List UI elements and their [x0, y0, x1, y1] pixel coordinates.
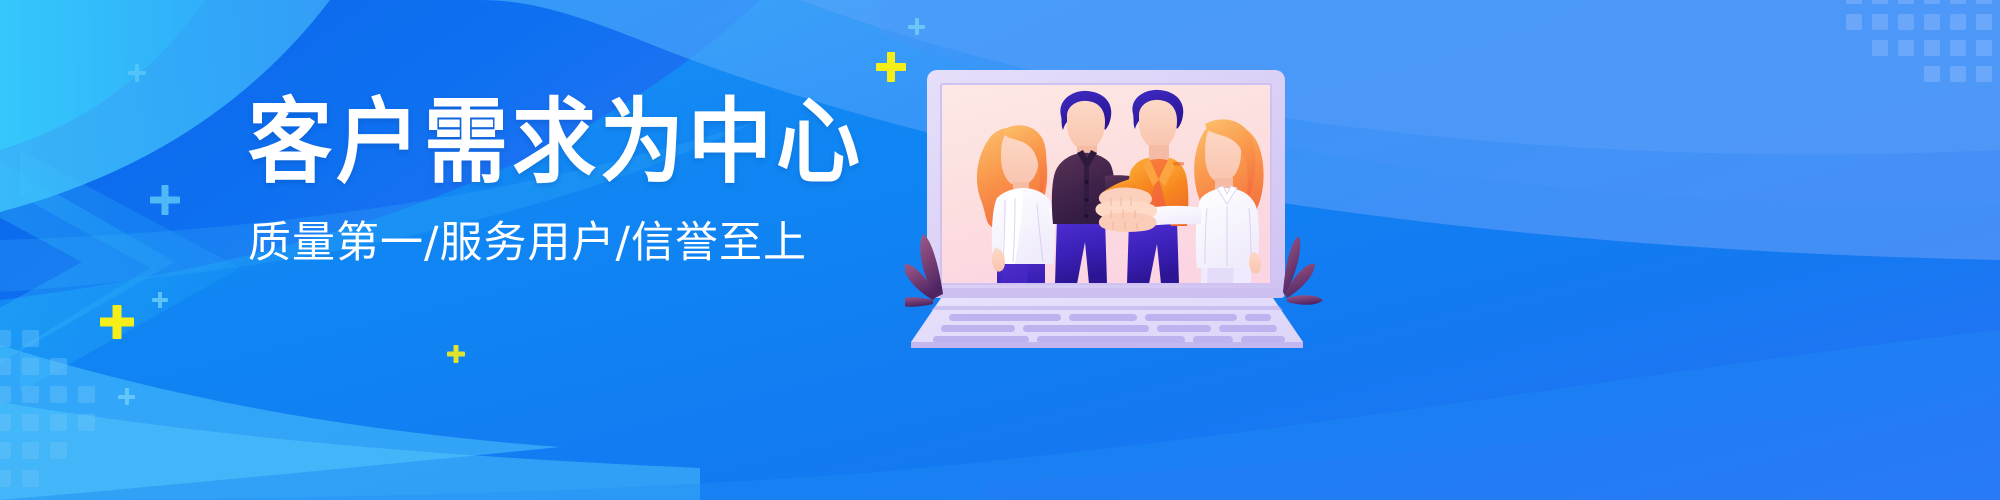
promo-banner: 客户需求为中心 质量第一/服务用户/信誉至上	[0, 0, 2000, 500]
plus-left-mid-icon	[150, 185, 180, 215]
headline-block: 客户需求为中心 质量第一/服务用户/信誉至上	[248, 96, 868, 265]
plus-bottom-left-cyan-icon	[152, 292, 168, 308]
plus-bottom-far-left-cyan-icon	[118, 388, 135, 405]
plus-bottom-left-yellow-icon	[100, 305, 134, 339]
plus-near-laptop-yellow-icon	[876, 52, 906, 82]
dot-grid-top-right	[1846, 0, 2000, 108]
dot-grid-bottom-left	[0, 330, 174, 500]
decorative-leaves-right	[1283, 236, 1323, 305]
team-handshake-illustration	[905, 58, 1325, 348]
plus-top-left-small-icon	[128, 64, 146, 82]
page-title: 客户需求为中心	[248, 96, 868, 188]
plus-bottom-center-yellow-icon	[447, 345, 465, 363]
page-subtitle: 质量第一/服务用户/信誉至上	[248, 222, 868, 265]
plus-near-laptop-cyan-icon	[908, 18, 925, 35]
stacked-hands	[1095, 188, 1157, 233]
